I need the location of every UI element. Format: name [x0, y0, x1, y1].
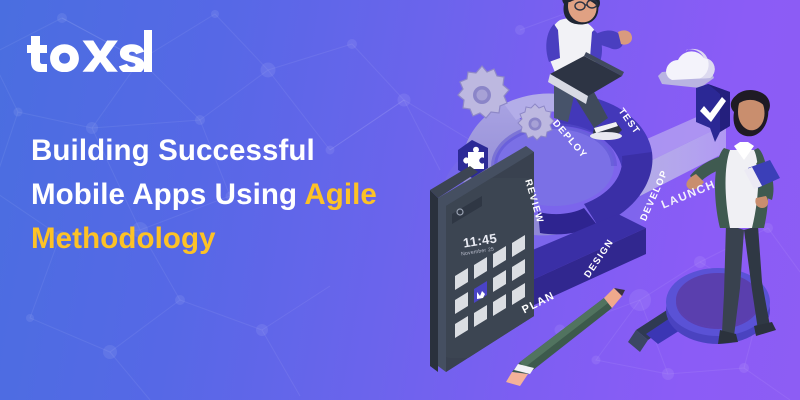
headline-highlight-methodology: Methodology — [31, 222, 216, 255]
headline-highlight-agile: Agile — [304, 178, 377, 211]
blog-banner: Building Successful Mobile Apps Using Ag… — [0, 0, 800, 400]
headline-line-1: Building Successful — [31, 129, 431, 173]
headline-line-3: Methodology — [31, 217, 431, 261]
magnifying-glass-icon — [628, 268, 770, 352]
headline-line-2: Mobile Apps Using Agile — [31, 173, 431, 217]
page-title: Building Successful Mobile Apps Using Ag… — [31, 129, 431, 261]
agile-lifecycle-illustration — [408, 0, 800, 400]
brand-logo[interactable] — [27, 30, 152, 72]
cloud-icon — [658, 49, 715, 88]
